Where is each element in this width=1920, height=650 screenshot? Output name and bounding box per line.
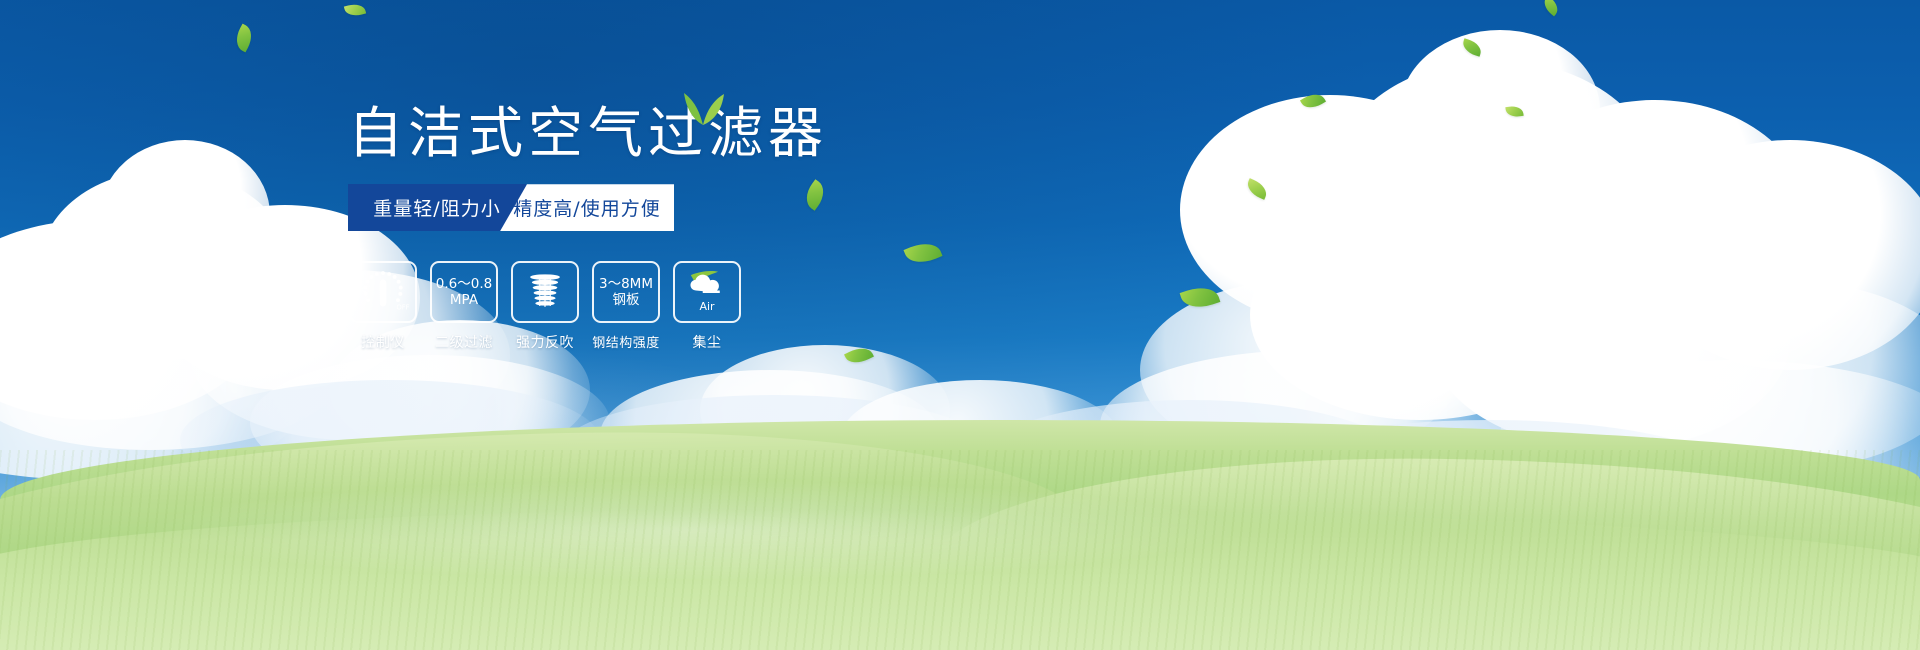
air-cloud-icon <box>684 270 730 299</box>
promo-banner: 自洁式空气过滤器 重量轻/阻力小 精度高/使用方便 <box>0 0 1920 650</box>
gauge-label-no: NO <box>356 285 367 294</box>
feature-item[interactable]: 强力反吹 <box>510 261 580 352</box>
feature-icon-box <box>511 261 579 323</box>
gauge-dial-icon: NO OFF <box>354 266 412 318</box>
feature-caption: 钢结构强度 <box>592 332 660 351</box>
pressure-unit-text: MPA <box>450 292 478 308</box>
feature-icon-box: Air <box>673 261 741 323</box>
tagline-badges: 重量轻/阻力小 精度高/使用方便 <box>348 184 1108 231</box>
feature-caption: 二级过滤 <box>435 332 493 352</box>
filter-cartridge-icon <box>524 271 566 313</box>
steel-plate-sub-text: 钢板 <box>613 292 640 308</box>
pressure-text-icon: 0.6～0.8 <box>436 276 492 292</box>
feature-icon-box: 3～8MM 钢板 <box>592 261 660 323</box>
page-title: 自洁式空气过滤器 <box>348 104 1108 162</box>
feature-caption: 强力反吹 <box>516 332 574 352</box>
feature-item[interactable]: NO OFF 控制仪 <box>348 261 418 352</box>
feature-item[interactable]: Air 集尘 <box>672 261 742 352</box>
feature-icon-box: NO OFF <box>349 261 417 323</box>
steel-plate-text-icon: 3～8MM <box>599 276 653 292</box>
grass-texture <box>0 450 1920 650</box>
feature-item[interactable]: 3～8MM 钢板 钢结构强度 <box>591 261 661 352</box>
gauge-label-off: OFF <box>396 304 409 312</box>
feature-icon-box: 0.6～0.8 MPA <box>430 261 498 323</box>
feature-list: NO OFF 控制仪 0.6～0.8 MPA 二级过滤 <box>348 261 1108 352</box>
feature-item[interactable]: 0.6～0.8 MPA 二级过滤 <box>429 261 499 352</box>
tagline-badge-secondary[interactable]: 精度高/使用方便 <box>500 184 674 231</box>
feature-caption: 集尘 <box>693 332 722 352</box>
banner-content: 自洁式空气过滤器 重量轻/阻力小 精度高/使用方便 <box>348 104 1108 352</box>
tagline-badge-primary[interactable]: 重量轻/阻力小 <box>348 184 526 231</box>
air-label: Air <box>699 300 714 313</box>
feature-caption: 控制仪 <box>361 332 405 352</box>
